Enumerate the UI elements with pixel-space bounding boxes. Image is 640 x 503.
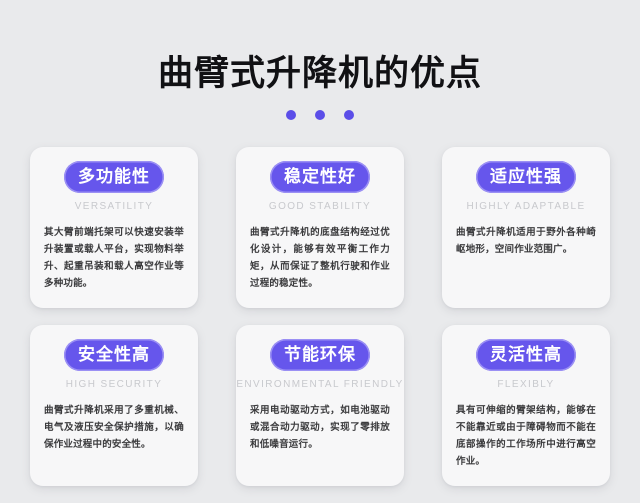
card-body: 曲臂式升降机采用了多重机械、电气及液压安全保护措施，以确保作业过程中的安全性。 [42,402,186,453]
card-badge: 安全性高 [64,339,164,371]
card-body: 曲臂式升降机的底盘结构经过优化设计，能够有效平衡工作力矩，从而保证了整机行驶和作… [248,224,392,292]
card-badge: 多功能性 [64,161,164,193]
card-subtitle: GOOD STABILITY [269,200,371,213]
dot-icon [286,110,296,120]
decorative-dots [0,110,640,120]
advantage-card-grid: 多功能性 VERSATILITY 其大臂前端托架可以快速安装举升装置或载人平台，… [0,147,640,486]
advantage-card: 多功能性 VERSATILITY 其大臂前端托架可以快速安装举升装置或载人平台，… [30,147,198,308]
card-subtitle: ENVIRONMENTAL FRIENDLY [236,378,403,391]
page-title: 曲臂式升降机的优点 [0,52,640,96]
advantage-card: 节能环保 ENVIRONMENTAL FRIENDLY 采用电动驱动方式，如电池… [236,325,404,486]
infographic-page: 曲臂式升降机的优点 多功能性 VERSATILITY 其大臂前端托架可以快速安装… [0,0,640,503]
card-subtitle: HIGH SECURITY [66,378,163,391]
advantage-card: 适应性强 HIGHLY ADAPTABLE 曲臂式升降机适用于野外各种崎岖地形，… [442,147,610,308]
card-body: 采用电动驱动方式，如电池驱动或混合动力驱动，实现了零排放和低噪音运行。 [248,402,392,453]
advantage-card: 安全性高 HIGH SECURITY 曲臂式升降机采用了多重机械、电气及液压安全… [30,325,198,486]
card-body: 其大臂前端托架可以快速安装举升装置或载人平台，实现物料举升、起重吊装和载人高空作… [42,224,186,292]
card-subtitle: HIGHLY ADAPTABLE [466,200,585,213]
card-badge: 适应性强 [476,161,576,193]
card-subtitle: FLEXIBLY [497,378,554,391]
card-subtitle: VERSATILITY [75,200,154,213]
advantage-card: 稳定性好 GOOD STABILITY 曲臂式升降机的底盘结构经过优化设计，能够… [236,147,404,308]
dot-icon [344,110,354,120]
card-body: 曲臂式升降机适用于野外各种崎岖地形，空间作业范围广。 [454,224,598,258]
dot-icon [315,110,325,120]
advantage-card: 灵活性高 FLEXIBLY 具有可伸缩的臂架结构，能够在不能靠近或由于障碍物而不… [442,325,610,486]
card-badge: 节能环保 [270,339,370,371]
card-body: 具有可伸缩的臂架结构，能够在不能靠近或由于障碍物而不能在底部操作的工作场所中进行… [454,402,598,470]
page-header: 曲臂式升降机的优点 [0,0,640,120]
card-badge: 灵活性高 [476,339,576,371]
card-badge: 稳定性好 [270,161,370,193]
